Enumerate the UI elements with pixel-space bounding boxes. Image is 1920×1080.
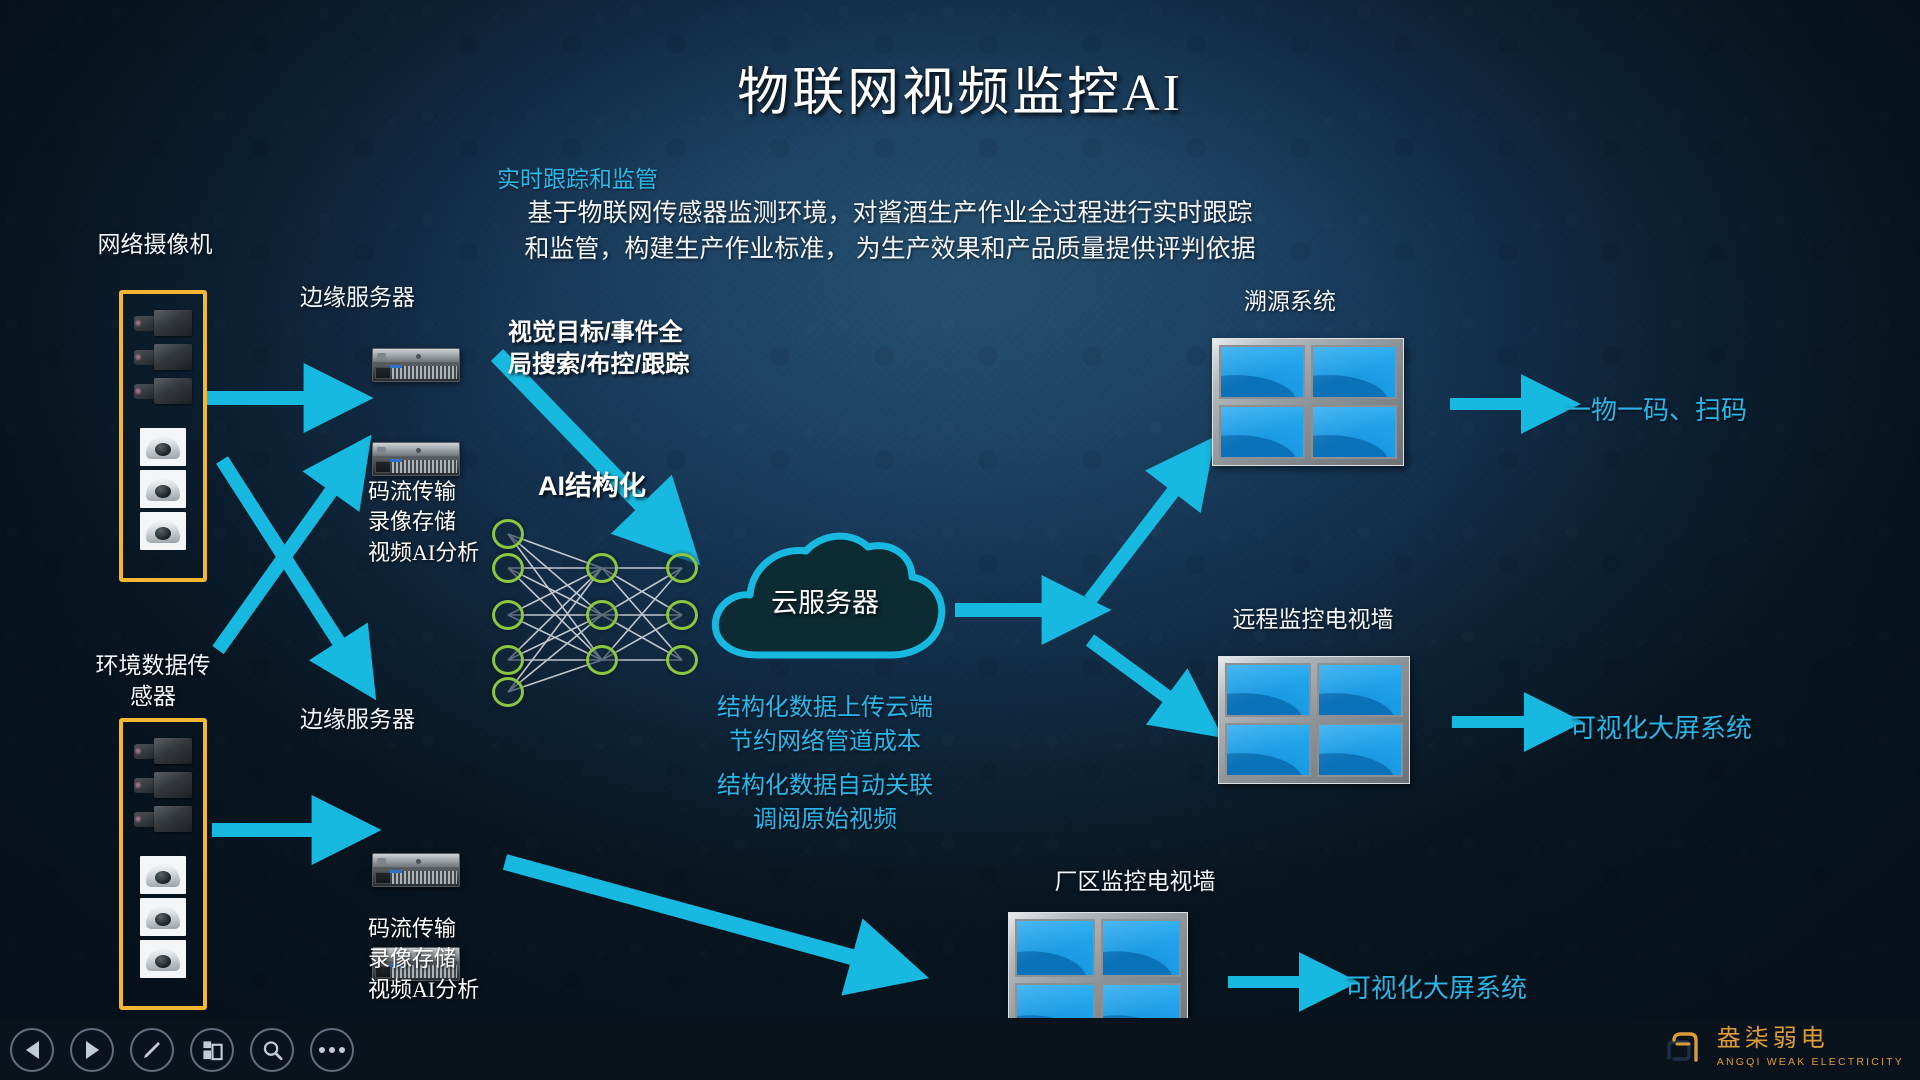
ai-structuring-label: AI结构化 — [538, 468, 646, 504]
panel-title-traceability: 溯源系统 — [1170, 282, 1410, 316]
previous-slide-button[interactable] — [10, 1028, 54, 1072]
box-camera-icon — [134, 770, 192, 800]
sensor-group-label: 环境数据传 感器 — [58, 650, 248, 712]
outcome-remote-wall: 可视化大屏系统 — [1570, 708, 1752, 745]
box-camera-icon — [134, 736, 192, 766]
nn-hidden-node — [586, 645, 618, 675]
edge-server-icon — [372, 442, 460, 476]
cloud-note-b-line-1: 结构化数据自动关联 — [660, 770, 990, 804]
edge-notes-top: 码流传输 录像存储 视频AI分析 — [368, 477, 479, 568]
outcome-factory-wall: 可视化大屏系统 — [1345, 968, 1527, 1005]
dome-camera-icon — [140, 898, 186, 936]
panel-title-factory-wall: 厂区监控电视墙 — [1000, 862, 1270, 896]
sensor-label-line-2: 感器 — [58, 681, 248, 712]
nn-input-node — [492, 600, 524, 630]
vision-note-line-2: 局搜索/布控/跟踪 — [508, 349, 689, 381]
box-camera-icon — [134, 308, 192, 338]
angqi-logo-icon — [1659, 1024, 1705, 1070]
box-camera-icon — [134, 342, 192, 372]
triangle-right-icon — [86, 1041, 99, 1059]
dome-camera-icon — [140, 856, 186, 894]
cloud-note-b-line-2: 调阅原始视频 — [660, 804, 990, 838]
sensor-label-line-1: 环境数据传 — [58, 650, 248, 681]
edge-note-line: 录像存储 — [368, 944, 479, 974]
nn-output-node — [666, 553, 698, 583]
edge-note-line: 视频AI分析 — [368, 538, 479, 568]
network-camera-group[interactable] — [119, 290, 207, 582]
slides-icon — [201, 1039, 224, 1062]
neural-network-graphic — [490, 520, 710, 710]
watermark: 盎柒弱电 ANGQI WEAK ELECTRICITY — [1659, 1024, 1904, 1070]
zoom-tool-button[interactable] — [250, 1028, 294, 1072]
watermark-cn: 盎柒弱电 — [1717, 1027, 1904, 1051]
video-screen — [1311, 345, 1397, 399]
camera-group-label: 网络摄像机 — [60, 225, 250, 259]
video-screen — [1219, 405, 1305, 459]
video-screen — [1101, 919, 1181, 977]
nn-input-node — [492, 677, 524, 707]
ellipsis-icon — [319, 1047, 345, 1053]
edge-server-icon — [372, 853, 460, 887]
dome-camera-icon — [140, 428, 186, 466]
nn-input-node — [492, 645, 524, 675]
video-screen — [1317, 723, 1403, 777]
vision-note-line-1: 视觉目标/事件全 — [508, 317, 689, 349]
dome-camera-icon — [140, 940, 186, 978]
vision-search-note: 视觉目标/事件全 局搜索/布控/跟踪 — [508, 317, 689, 382]
pen-icon — [140, 1038, 164, 1062]
triangle-left-icon — [26, 1041, 39, 1059]
edge-note-line: 录像存储 — [368, 507, 479, 537]
dome-camera-icon — [140, 470, 186, 508]
nn-input-node — [492, 519, 524, 549]
environment-sensor-group[interactable] — [119, 718, 207, 1010]
more-options-button[interactable] — [310, 1028, 354, 1072]
nn-hidden-node — [586, 553, 618, 583]
edge-server-icon — [372, 348, 460, 382]
video-screen — [1219, 345, 1305, 399]
video-screen — [1317, 663, 1403, 717]
nn-input-node — [492, 553, 524, 583]
video-wall-remote[interactable] — [1218, 656, 1410, 784]
outcome-traceability: 一物一码、扫码 — [1565, 390, 1747, 427]
dome-camera-icon — [140, 512, 186, 550]
cloud-note-a: 结构化数据上传云端 节约网络管道成本 — [660, 692, 990, 759]
edge-server-label-bottom: 边缘服务器 — [300, 700, 500, 734]
watermark-en: ANGQI WEAK ELECTRICITY — [1717, 1056, 1904, 1068]
video-screen — [1225, 723, 1311, 777]
connector-arrows — [0, 0, 1920, 1080]
video-screen — [1225, 663, 1311, 717]
nn-output-node — [666, 645, 698, 675]
box-camera-icon — [134, 804, 192, 834]
edge-server-label-top: 边缘服务器 — [300, 278, 500, 312]
edge-notes-bottom: 码流传输 录像存储 视频AI分析 — [368, 914, 479, 1005]
pen-tool-button[interactable] — [130, 1028, 174, 1072]
video-screen — [1015, 919, 1095, 977]
cloud-server-graphic: 云服务器 — [700, 525, 950, 675]
video-wall-traceability[interactable] — [1212, 338, 1404, 466]
nn-output-node — [666, 600, 698, 630]
edge-note-line: 码流传输 — [368, 477, 479, 507]
cloud-server-label: 云服务器 — [700, 581, 950, 620]
cloud-note-a-line-1: 结构化数据上传云端 — [660, 692, 990, 726]
search-icon — [261, 1039, 284, 1062]
panel-title-remote-wall: 远程监控电视墙 — [1178, 600, 1448, 634]
presentation-slide: 物联网视频监控AI 实时跟踪和监管 基于物联网传感器监测环境，对酱酒生产作业全过… — [0, 0, 1920, 1080]
edge-note-line: 视频AI分析 — [368, 975, 479, 1005]
nn-hidden-node — [586, 600, 618, 630]
box-camera-icon — [134, 376, 192, 406]
next-slide-button[interactable] — [70, 1028, 114, 1072]
cloud-note-a-line-2: 节约网络管道成本 — [660, 726, 990, 760]
edge-note-line: 码流传输 — [368, 914, 479, 944]
slideshow-toolbar — [10, 1028, 354, 1072]
video-screen — [1311, 405, 1397, 459]
cloud-note-b: 结构化数据自动关联 调阅原始视频 — [660, 770, 990, 837]
slide-overview-button[interactable] — [190, 1028, 234, 1072]
